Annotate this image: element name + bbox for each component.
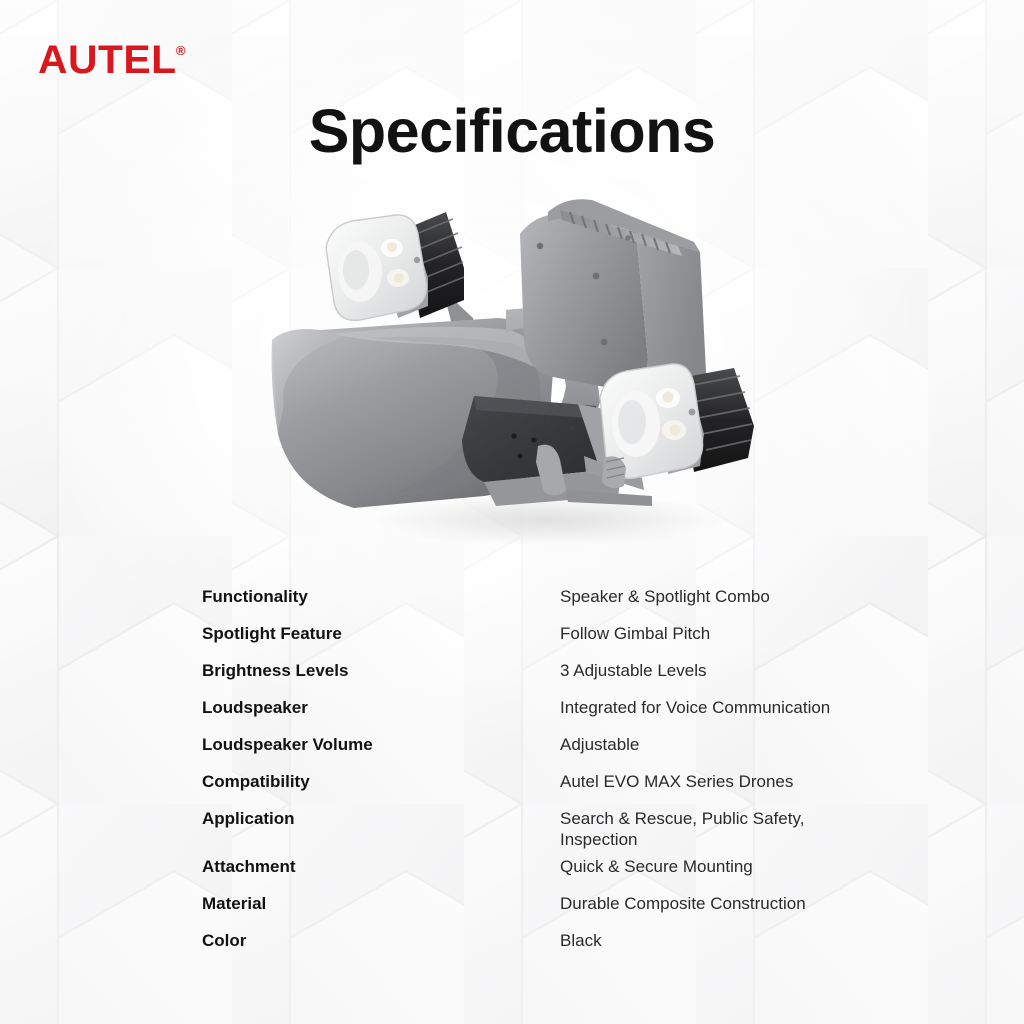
table-row: Attachment Quick & Secure Mounting xyxy=(202,854,962,891)
registered-trademark-icon: ® xyxy=(176,44,186,57)
spotlight-module-right xyxy=(600,364,754,488)
spec-label: Spotlight Feature xyxy=(202,621,560,644)
table-row: Compatibility Autel EVO MAX Series Drone… xyxy=(202,769,962,806)
spec-value: Adjustable xyxy=(560,732,962,755)
spec-value: Integrated for Voice Communication xyxy=(560,695,962,718)
table-row: Spotlight Feature Follow Gimbal Pitch xyxy=(202,621,962,658)
spec-label: Color xyxy=(202,928,560,951)
table-row: Brightness Levels 3 Adjustable Levels xyxy=(202,658,962,695)
spec-label: Attachment xyxy=(202,854,560,877)
spec-value: Black xyxy=(560,928,962,951)
spec-value: Quick & Secure Mounting xyxy=(560,854,962,877)
product-shadow xyxy=(368,494,728,546)
spec-label: Application xyxy=(202,806,560,829)
spec-label: Functionality xyxy=(202,584,560,607)
specifications-table: Functionality Speaker & Spotlight Combo … xyxy=(202,584,962,965)
spec-value: Speaker & Spotlight Combo xyxy=(560,584,962,607)
spec-value: Autel EVO MAX Series Drones xyxy=(560,769,962,792)
table-row: Material Durable Composite Construction xyxy=(202,891,962,928)
autel-logo-wordmark: AUTEL xyxy=(38,42,177,79)
product-image-speaker-spotlight xyxy=(248,190,788,550)
specifications-page: AUTEL ® Specifications xyxy=(0,0,1024,1024)
table-row: Loudspeaker Volume Adjustable xyxy=(202,732,962,769)
table-row: Functionality Speaker & Spotlight Combo xyxy=(202,584,962,621)
spec-label: Loudspeaker xyxy=(202,695,560,718)
spec-label: Brightness Levels xyxy=(202,658,560,681)
table-row: Color Black xyxy=(202,928,962,965)
table-row: Loudspeaker Integrated for Voice Communi… xyxy=(202,695,962,732)
spec-value: 3 Adjustable Levels xyxy=(560,658,962,681)
spec-value: Durable Composite Construction xyxy=(560,891,962,914)
autel-logo: AUTEL ® xyxy=(38,42,185,79)
table-row: Application Search & Rescue, Public Safe… xyxy=(202,806,962,854)
spec-label: Material xyxy=(202,891,560,914)
spec-value: Search & Rescue, Public Safety, Inspecti… xyxy=(560,806,962,851)
spec-label: Compatibility xyxy=(202,769,560,792)
spec-value: Follow Gimbal Pitch xyxy=(560,621,962,644)
page-title: Specifications xyxy=(0,98,1024,165)
spec-label: Loudspeaker Volume xyxy=(202,732,560,755)
